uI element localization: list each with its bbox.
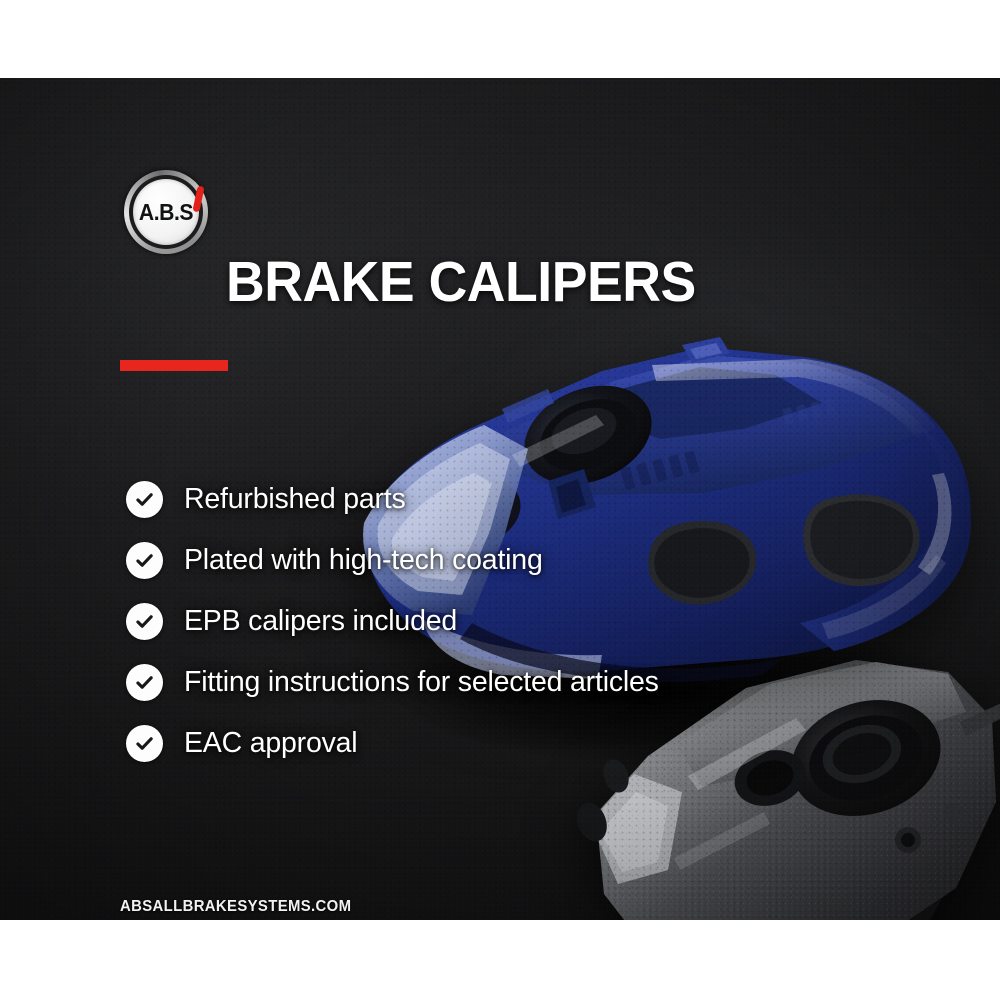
feature-list: Refurbished parts Plated with high-tech … <box>126 469 826 774</box>
check-circle-icon <box>126 725 163 762</box>
check-circle-icon <box>126 542 163 579</box>
page-title: BRAKE CALIPERS <box>226 253 696 311</box>
check-circle-icon <box>126 664 163 701</box>
list-item-label: EAC approval <box>184 727 357 760</box>
list-item-label: Plated with high-tech coating <box>184 544 543 577</box>
check-circle-icon <box>126 481 163 518</box>
abs-logo: A.B.S <box>124 170 208 254</box>
list-item: Plated with high-tech coating <box>126 530 826 591</box>
title-underline-rule <box>120 360 228 371</box>
list-item-label: EPB calipers included <box>184 605 457 638</box>
grey-caliper-shadow <box>600 908 1000 920</box>
list-item-label: Refurbished parts <box>184 483 406 516</box>
promo-banner-page: A.B.S BRAKE CALIPERS Refurbished parts P… <box>0 0 1000 1000</box>
list-item: EPB calipers included <box>126 591 826 652</box>
list-item: EAC approval <box>126 713 826 774</box>
list-item: Refurbished parts <box>126 469 826 530</box>
footer-website-url: ABSALLBRAKESYSTEMS.COM <box>120 898 351 916</box>
banner-background: A.B.S BRAKE CALIPERS Refurbished parts P… <box>0 78 1000 920</box>
logo-text: A.B.S <box>127 170 204 254</box>
check-circle-icon <box>126 603 163 640</box>
list-item-label: Fitting instructions for selected articl… <box>184 666 659 699</box>
list-item: Fitting instructions for selected articl… <box>126 652 826 713</box>
